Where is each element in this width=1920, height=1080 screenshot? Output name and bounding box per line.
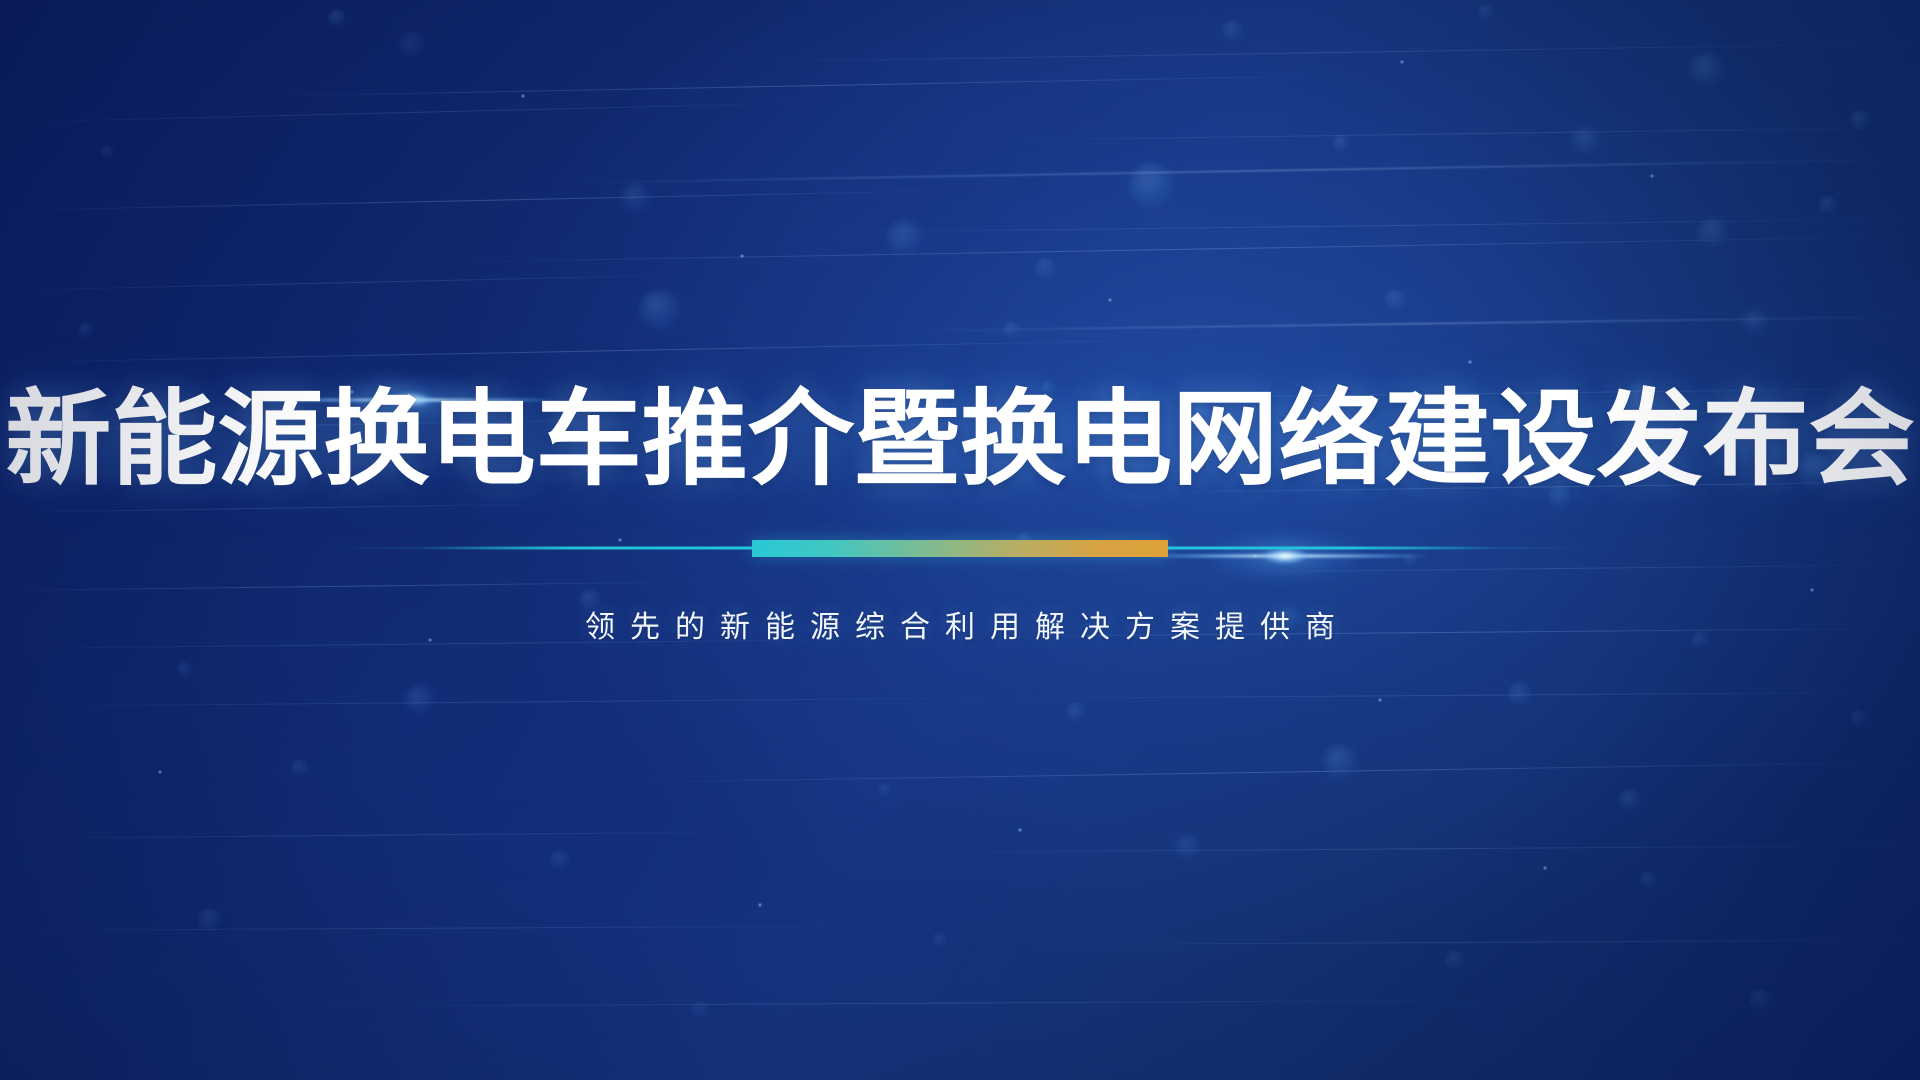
subtitle: 领先的新能源综合利用解决方案提供商 (570, 602, 1350, 646)
divider-gradient-bar (752, 540, 1168, 557)
presentation-slide: 新能源换电车推介暨换电网络建设发布会 领先的新能源综合利用解决方案提供商 (0, 0, 1920, 1080)
divider-wing-right (1168, 547, 1498, 550)
slide-content: 新能源换电车推介暨换电网络建设发布会 领先的新能源综合利用解决方案提供商 (0, 0, 1920, 1080)
main-title: 新能源换电车推介暨换电网络建设发布会 (5, 388, 1914, 492)
divider-wing-left (422, 547, 752, 550)
divider (0, 536, 1920, 560)
